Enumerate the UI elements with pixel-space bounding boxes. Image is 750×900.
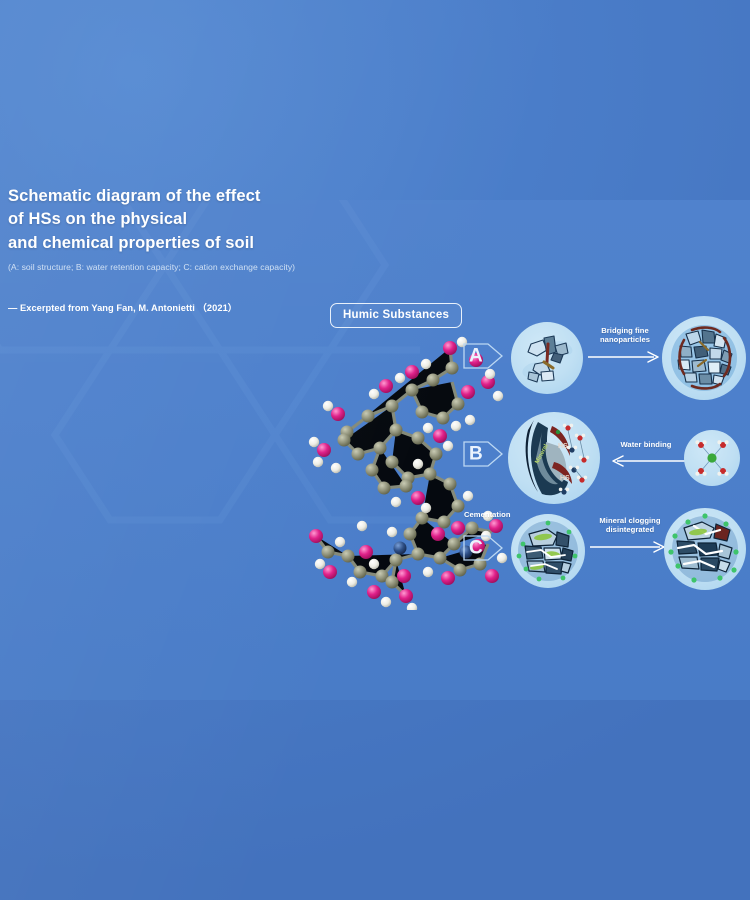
disintegrated-mineral-aggregate-icon xyxy=(664,508,746,590)
svg-text:HS: HS xyxy=(558,443,568,450)
panel-a-after-circle xyxy=(662,316,746,400)
panel-c-side-label: Cementation xyxy=(464,510,511,519)
dispersed-soil-particles-icon xyxy=(511,322,583,394)
poster-canvas: Schematic diagram of the effect of HSs o… xyxy=(0,0,750,900)
title-line-1: Schematic diagram of the effect xyxy=(8,185,338,208)
panel-a-process: Bridging fine nanoparticles xyxy=(586,326,664,365)
panel-c-process-label: Mineral clogging disintegrated xyxy=(588,516,672,535)
arrow-right-icon xyxy=(588,539,672,555)
panel-b: B HS HS Mineral xyxy=(462,412,750,508)
arrow-left-icon xyxy=(605,453,687,469)
panel-b-before-circle: HS HS Mineral xyxy=(508,412,600,504)
panel-c-process: Mineral clogging disintegrated xyxy=(588,516,672,555)
page-title: Schematic diagram of the effect of HSs o… xyxy=(8,185,338,255)
svg-text:HS: HS xyxy=(560,475,570,482)
panel-c-letter: C xyxy=(469,539,483,558)
panel-b-process-label: Water binding xyxy=(605,440,687,449)
title-line-3: and chemical properties of soil xyxy=(8,232,338,255)
panel-b-badge: B xyxy=(462,434,506,474)
figure-subtitle: (A: soil structure; B: water retention c… xyxy=(8,262,338,273)
panel-b-after-circle xyxy=(684,430,740,486)
figure-text-block: Schematic diagram of the effect of HSs o… xyxy=(8,185,338,314)
humic-substances-label: Humic Substances xyxy=(330,303,462,328)
panel-a-before-circle xyxy=(511,322,583,394)
hs-coated-mineral-with-bound-water-icon: HS HS Mineral xyxy=(508,412,600,504)
panel-b-letter: B xyxy=(469,445,483,464)
panel-a-process-label: Bridging fine nanoparticles xyxy=(586,326,664,345)
panel-a-letter: A xyxy=(469,347,483,366)
hydrated-cation-cluster-icon xyxy=(684,430,740,486)
panel-c-badge: C xyxy=(462,528,506,568)
panel-c-after-circle xyxy=(664,508,746,590)
panel-b-process: Water binding xyxy=(605,440,687,469)
title-line-2: of HSs on the physical xyxy=(8,208,338,231)
cemented-mineral-aggregate-icon xyxy=(511,514,585,588)
figure-attribution: — Excerpted from Yang Fan, M. Antonietti… xyxy=(8,300,338,314)
panel-c: Cementation C xyxy=(462,506,750,600)
arrow-right-icon xyxy=(586,349,664,365)
aggregated-soil-particles-icon xyxy=(662,316,746,400)
panel-c-before-circle xyxy=(511,514,585,588)
panel-a-badge: A xyxy=(462,336,506,376)
panel-a: A xyxy=(462,316,750,404)
